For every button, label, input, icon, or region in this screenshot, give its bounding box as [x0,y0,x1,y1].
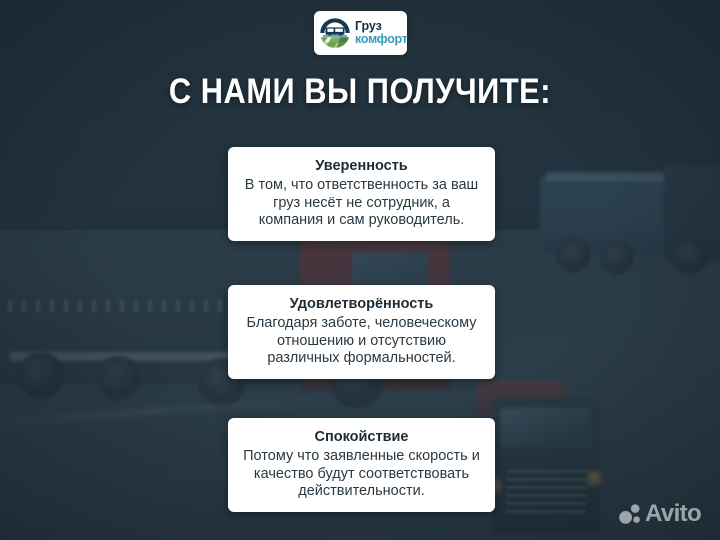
page-title: С НАМИ ВЫ ПОЛУЧИТЕ: [43,72,677,112]
brand-name-line-2: комфорт [355,33,408,46]
benefit-card-title: Спокойствие [240,428,483,447]
benefit-card-title: Удовлетворённость [240,295,483,314]
promo-banner: Груз комфорт С НАМИ ВЫ ПОЛУЧИТЕ: Уверенн… [0,0,720,540]
benefit-card-body: Потому что заявленные скорость и качеств… [240,448,483,502]
avito-wordmark: Avito [645,502,701,526]
benefit-card: Удовлетворённость Благодаря заботе, чело… [228,285,495,379]
benefit-card: Спокойствие Потому что заявленные скорос… [228,418,495,512]
truck-field-emblem-icon [318,16,352,50]
benefit-card: Уверенность В том, что ответственность з… [228,147,495,241]
brand-logo[interactable]: Груз комфорт [314,11,407,55]
banner-content: Груз комфорт С НАМИ ВЫ ПОЛУЧИТЕ: Уверенн… [0,0,720,540]
brand-wordmark: Груз комфорт [355,20,408,46]
benefit-card-title: Уверенность [240,157,483,176]
avito-watermark: Avito [618,502,701,526]
benefit-card-body: Благодаря заботе, человеческому отношени… [240,315,483,369]
avito-dots-icon [618,502,642,526]
benefit-card-body: В том, что ответственность за ваш груз н… [240,177,483,231]
